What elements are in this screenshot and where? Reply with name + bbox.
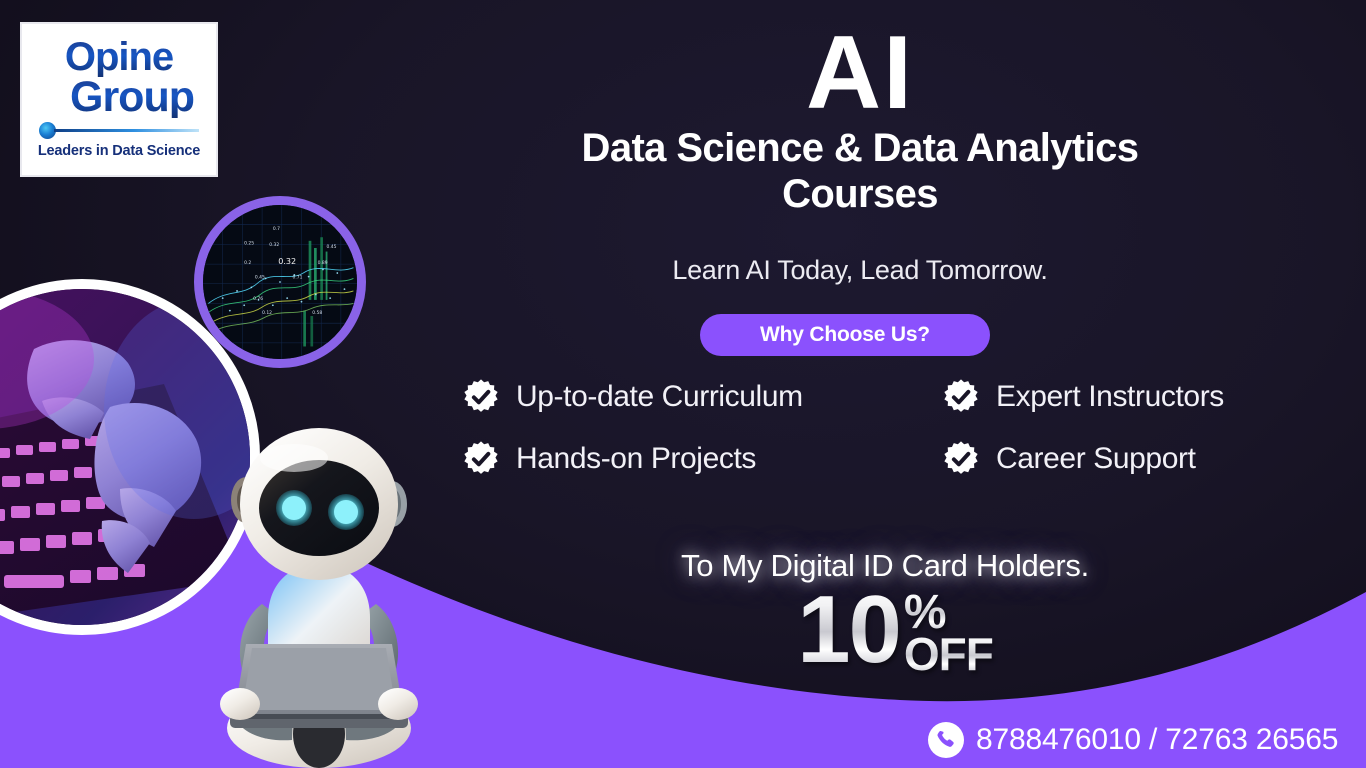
feature-item-curriculum: Up-to-date Curriculum: [462, 378, 942, 416]
phone-icon[interactable]: [928, 722, 964, 758]
why-choose-us-button[interactable]: Why Choose Us?: [700, 314, 990, 356]
svg-text:0.58: 0.58: [312, 310, 322, 316]
contact-phone-numbers[interactable]: 8788476010 / 72763 26565: [976, 723, 1338, 757]
logo-pin-graphic: [39, 122, 199, 138]
feature-list: Up-to-date Curriculum Expert Instructors…: [462, 378, 1292, 502]
svg-text:0.89: 0.89: [318, 260, 328, 266]
svg-text:0.2: 0.2: [244, 260, 251, 266]
headline-subtitle-line1: Data Science & Data Analytics: [470, 126, 1250, 170]
svg-text:0.32: 0.32: [269, 242, 279, 248]
discount-off-label: OFF: [904, 633, 993, 675]
verified-check-badge-icon: [942, 378, 980, 416]
page-title: AI: [470, 24, 1250, 124]
feature-label: Career Support: [996, 442, 1196, 476]
logo-line-icon: [54, 129, 199, 132]
feature-label: Up-to-date Curriculum: [516, 380, 803, 414]
verified-check-badge-icon: [942, 440, 980, 478]
svg-text:0.7: 0.7: [273, 226, 280, 232]
headline-tagline: Learn AI Today, Lead Tomorrow.: [470, 255, 1250, 286]
feature-label: Expert Instructors: [996, 380, 1224, 414]
svg-text:0.32: 0.32: [278, 257, 296, 266]
discount-percent-symbol: %: [904, 592, 947, 633]
robot-mascot: [206, 428, 432, 768]
data-visualization-circle: 0.7 0.25 0.32 0.45 0.2 0.89 0.45 0.71 0.…: [194, 196, 366, 368]
svg-text:0.45: 0.45: [255, 274, 265, 280]
discount-amount: 10: [797, 586, 900, 674]
brand-logo[interactable]: Opine Group Leaders in Data Science: [20, 22, 218, 177]
headline-block: AI Data Science & Data Analytics Courses: [470, 24, 1250, 216]
svg-text:0.76: 0.76: [253, 296, 263, 302]
feature-row: Hands-on Projects Career Support: [462, 440, 1292, 478]
svg-text:0.71: 0.71: [293, 274, 303, 280]
headline-subtitle-line2: Courses: [470, 172, 1250, 216]
feature-row: Up-to-date Curriculum Expert Instructors: [462, 378, 1292, 416]
feature-label: Hands-on Projects: [516, 442, 756, 476]
logo-text-group: Group: [70, 77, 194, 118]
svg-text:0.45: 0.45: [327, 244, 337, 250]
verified-check-badge-icon: [462, 440, 500, 478]
logo-tagline: Leaders in Data Science: [38, 143, 200, 159]
contact-row[interactable]: 8788476010 / 72763 26565: [928, 722, 1338, 758]
logo-text-opine: Opine: [65, 38, 173, 76]
svg-text:0.12: 0.12: [262, 310, 272, 316]
promo-banner: Opine Group Leaders in Data Science: [0, 0, 1366, 768]
verified-check-badge-icon: [462, 378, 500, 416]
feature-item-projects: Hands-on Projects: [462, 440, 942, 478]
svg-text:0.25: 0.25: [244, 240, 254, 246]
feature-item-instructors: Expert Instructors: [942, 378, 1292, 416]
network-plot-illustration: 0.7 0.25 0.32 0.45 0.2 0.89 0.45 0.71 0.…: [203, 205, 357, 359]
discount-block: 10 % OFF: [660, 586, 1130, 676]
feature-item-career: Career Support: [942, 440, 1292, 478]
